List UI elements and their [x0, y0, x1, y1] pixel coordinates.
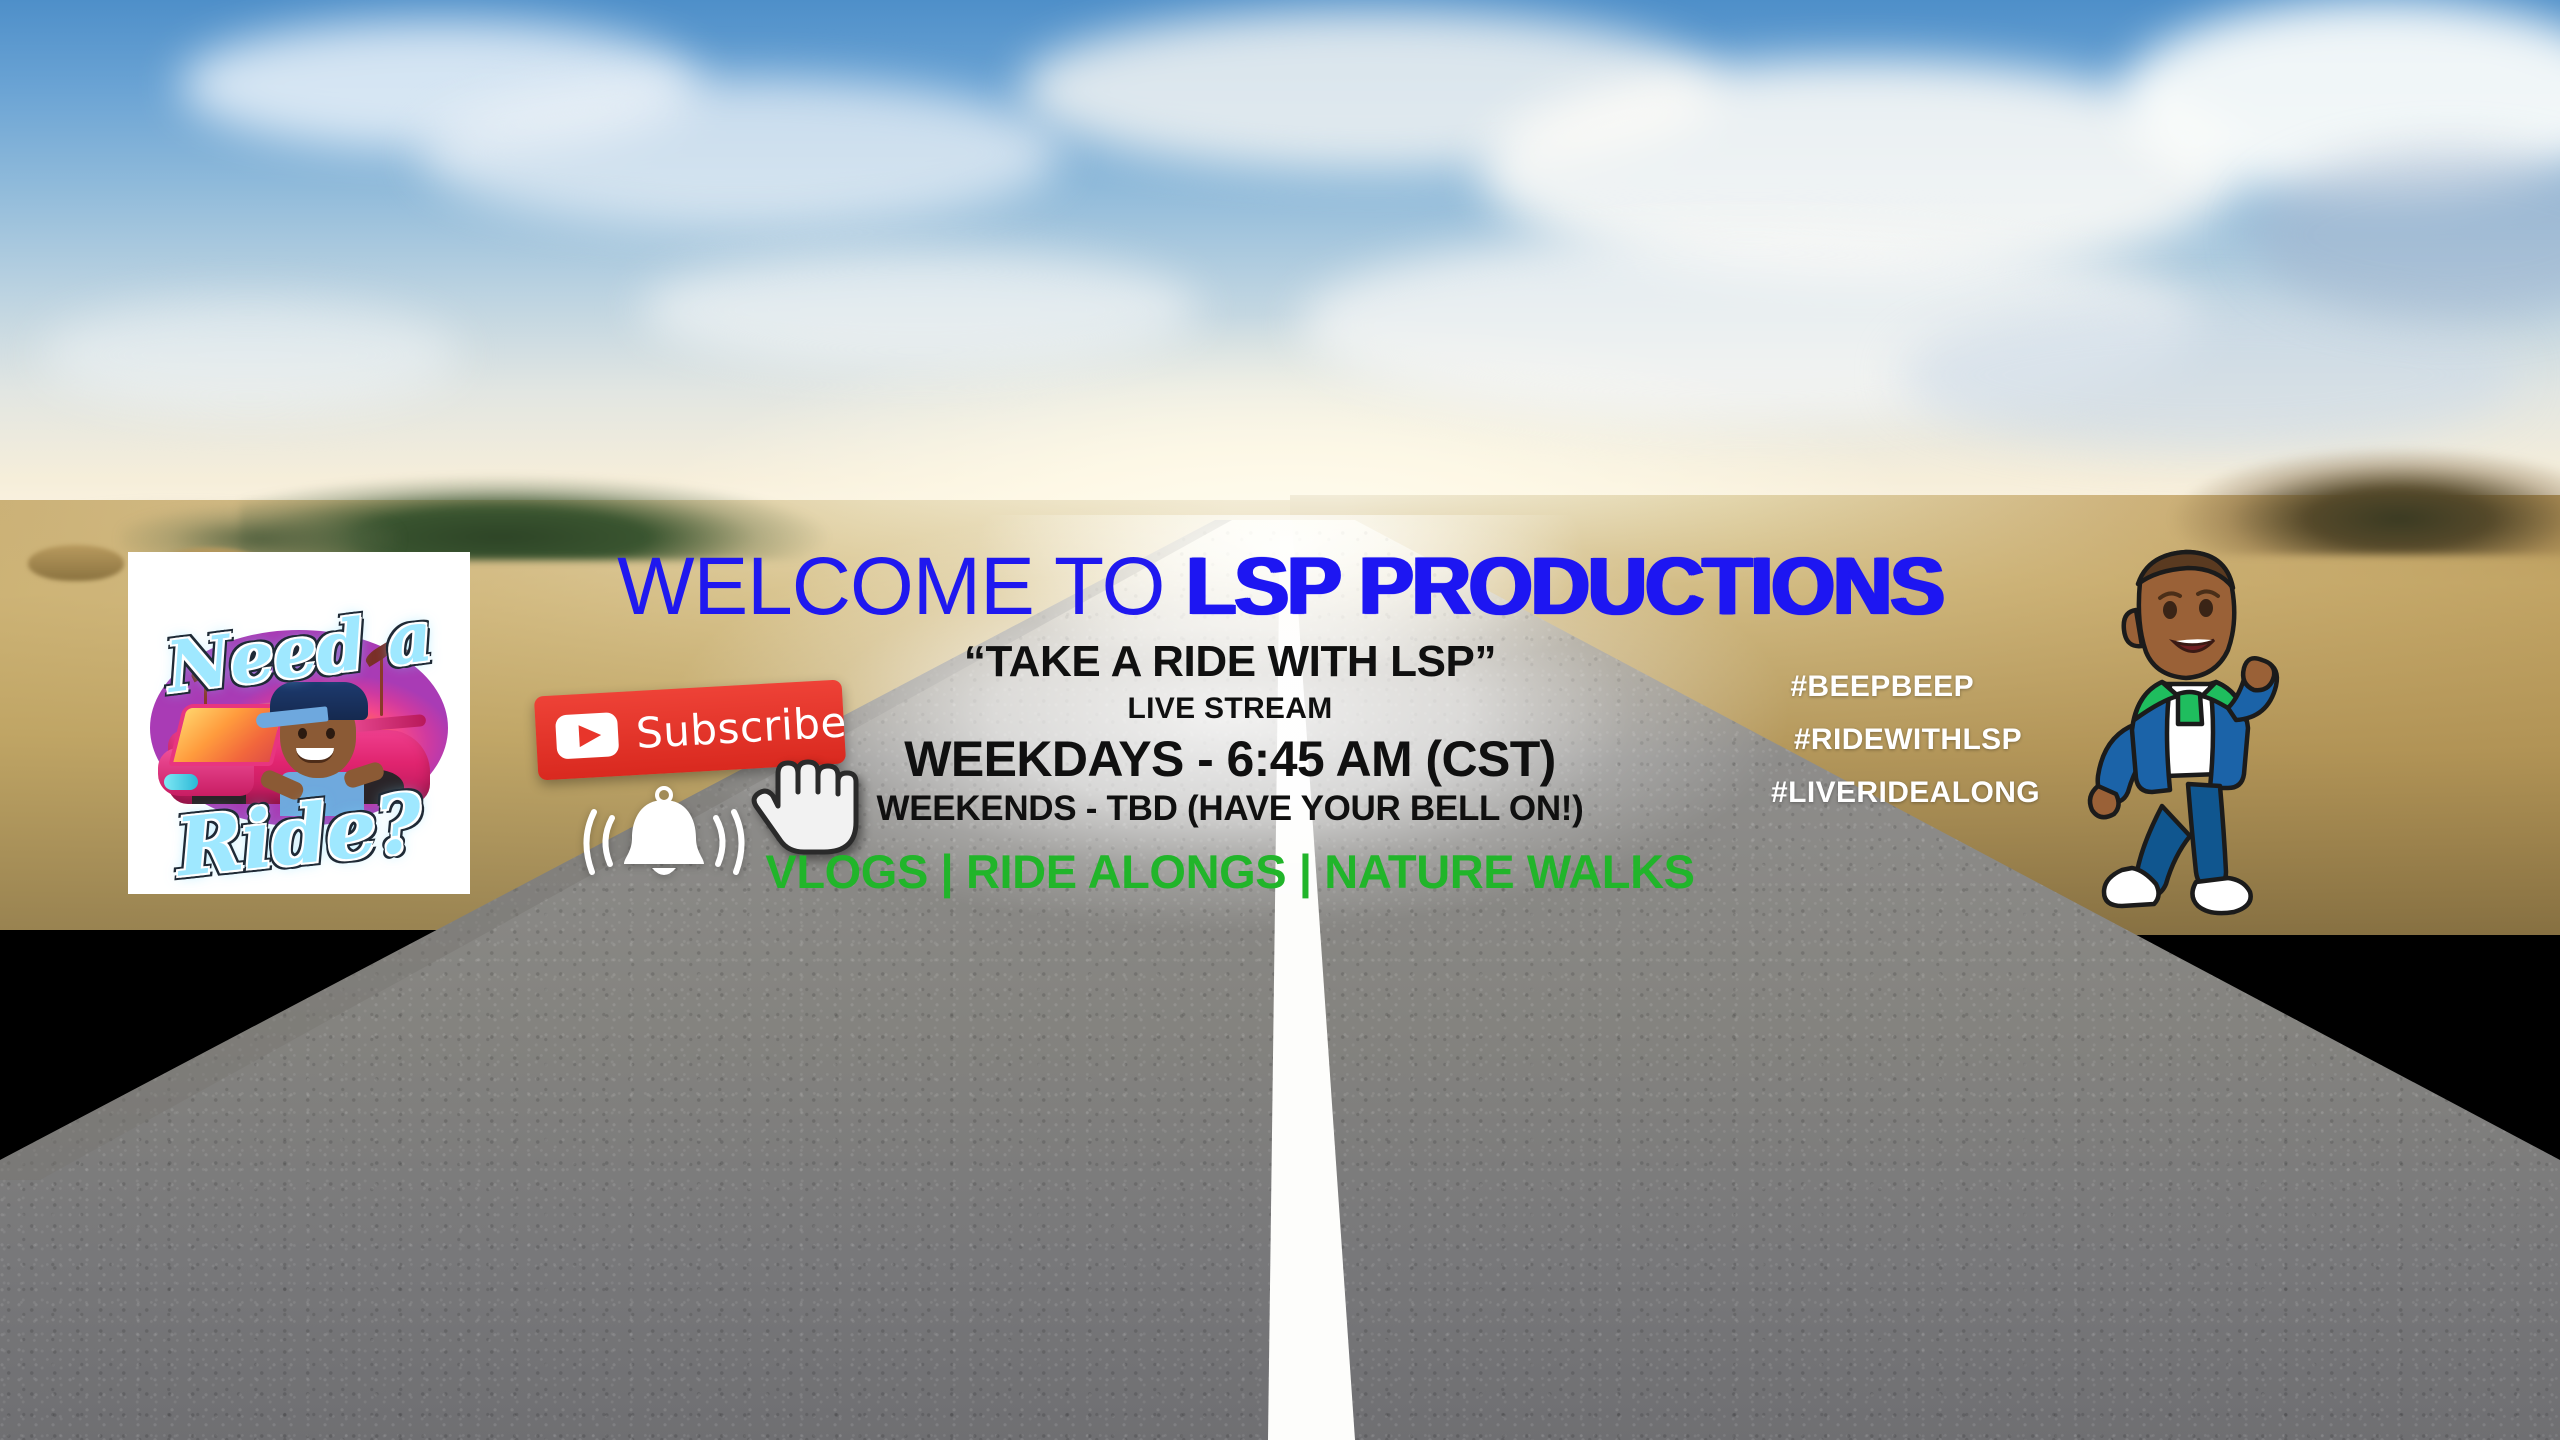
- logo-car-headlight: [164, 774, 198, 790]
- headline-welcome-text: WELCOME TO: [617, 541, 1186, 632]
- logo-bitmoji-eye: [326, 728, 335, 739]
- youtube-play-icon: [555, 712, 619, 759]
- notification-bell-ringing-icon: [578, 782, 750, 886]
- hashtag-list: #BEEPBEEP #RIDEWITHLSP #LIVERIDEALONG: [1480, 660, 2040, 819]
- logo-bitmoji-eye: [298, 728, 307, 739]
- hashtag-item: #RIDEWITHLSP: [1480, 713, 2040, 766]
- running-bitmoji-avatar: [2078, 548, 2316, 938]
- treeline-right: [2150, 425, 2560, 555]
- cloud: [40, 300, 460, 410]
- content-categories: VLOGS | RIDE ALONGS | NATURE WALKS: [760, 844, 1700, 900]
- cloud: [420, 78, 1060, 228]
- youtube-channel-banner: Need a Ride? Subscribe WE: [0, 0, 2560, 1440]
- hashtag-item: #LIVERIDEALONG: [1480, 766, 2040, 819]
- headline-brand-text: LSP PRODUCTIONS: [1186, 541, 1943, 632]
- hashtag-item: #BEEPBEEP: [1480, 660, 2040, 713]
- cloud: [640, 250, 1200, 370]
